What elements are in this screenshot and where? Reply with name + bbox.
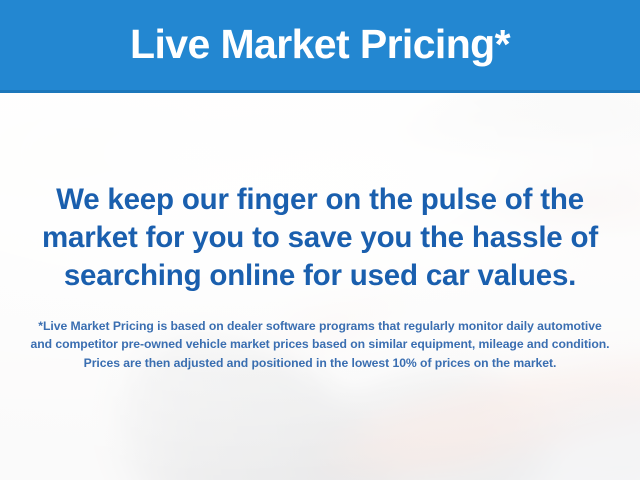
header-bar: Live Market Pricing* [0,0,640,90]
disclaimer-text: *Live Market Pricing is based on dealer … [0,317,640,372]
banner-content: We keep our finger on the pulse of the m… [0,93,640,480]
headline-text: We keep our finger on the pulse of the m… [0,181,640,295]
header-divider [0,90,640,93]
live-market-pricing-banner: Live Market Pricing* We keep our finger … [0,0,640,480]
page-title: Live Market Pricing* [130,24,510,67]
